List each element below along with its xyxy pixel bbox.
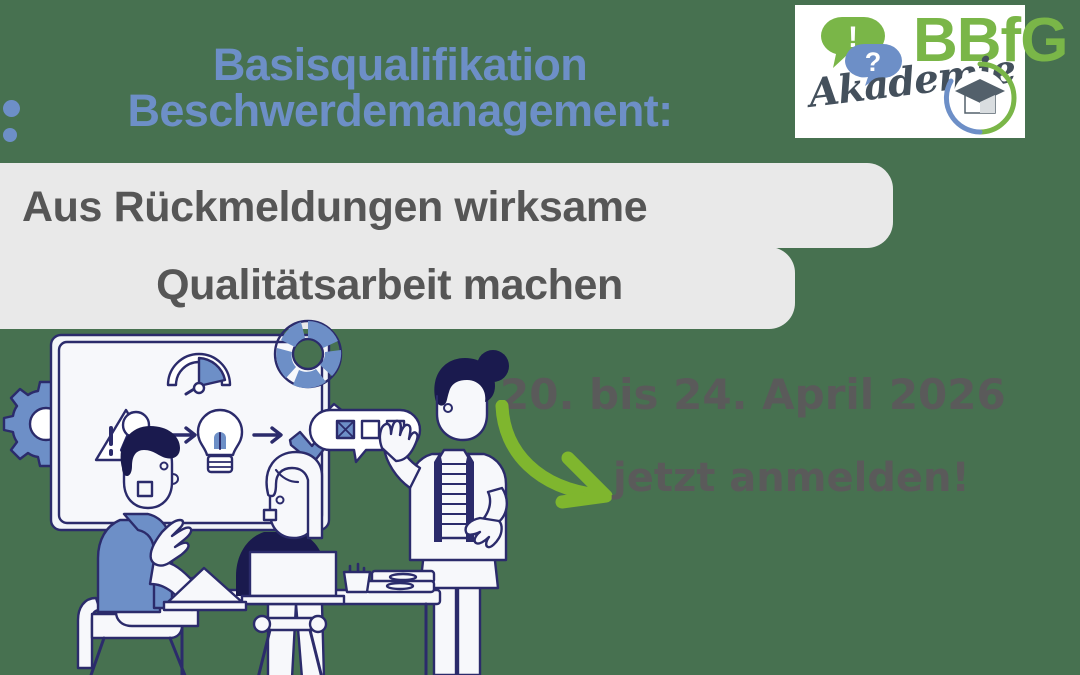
event-title-line-2: Beschwerdemanagement: — [0, 88, 800, 134]
pen-cup — [344, 564, 370, 592]
event-title-line-1: Basisqualifikation — [0, 42, 800, 88]
headline-line-2: Qualitätsarbeit machen — [0, 247, 795, 329]
headline: Aus Rückmeldungen wirksame Qualitätsarbe… — [0, 163, 893, 329]
person-standing-right — [380, 350, 509, 675]
donut-chart-icon — [275, 321, 341, 388]
cta-register[interactable]: jetzt anmelden! — [613, 455, 970, 501]
headline-line-1: Aus Rückmeldungen wirksame — [0, 163, 893, 248]
workshop-illustration — [0, 318, 552, 675]
event-title: Basisqualifikation Beschwerdemanagement: — [0, 42, 800, 135]
banner-canvas: ! ? BBfG Akademie Basisqualifikation Bes… — [0, 0, 1080, 675]
bbfg-akademie-logo[interactable]: ! ? BBfG Akademie — [795, 5, 1025, 138]
graduation-cap-icon — [943, 61, 1017, 135]
book-stack — [366, 571, 434, 592]
